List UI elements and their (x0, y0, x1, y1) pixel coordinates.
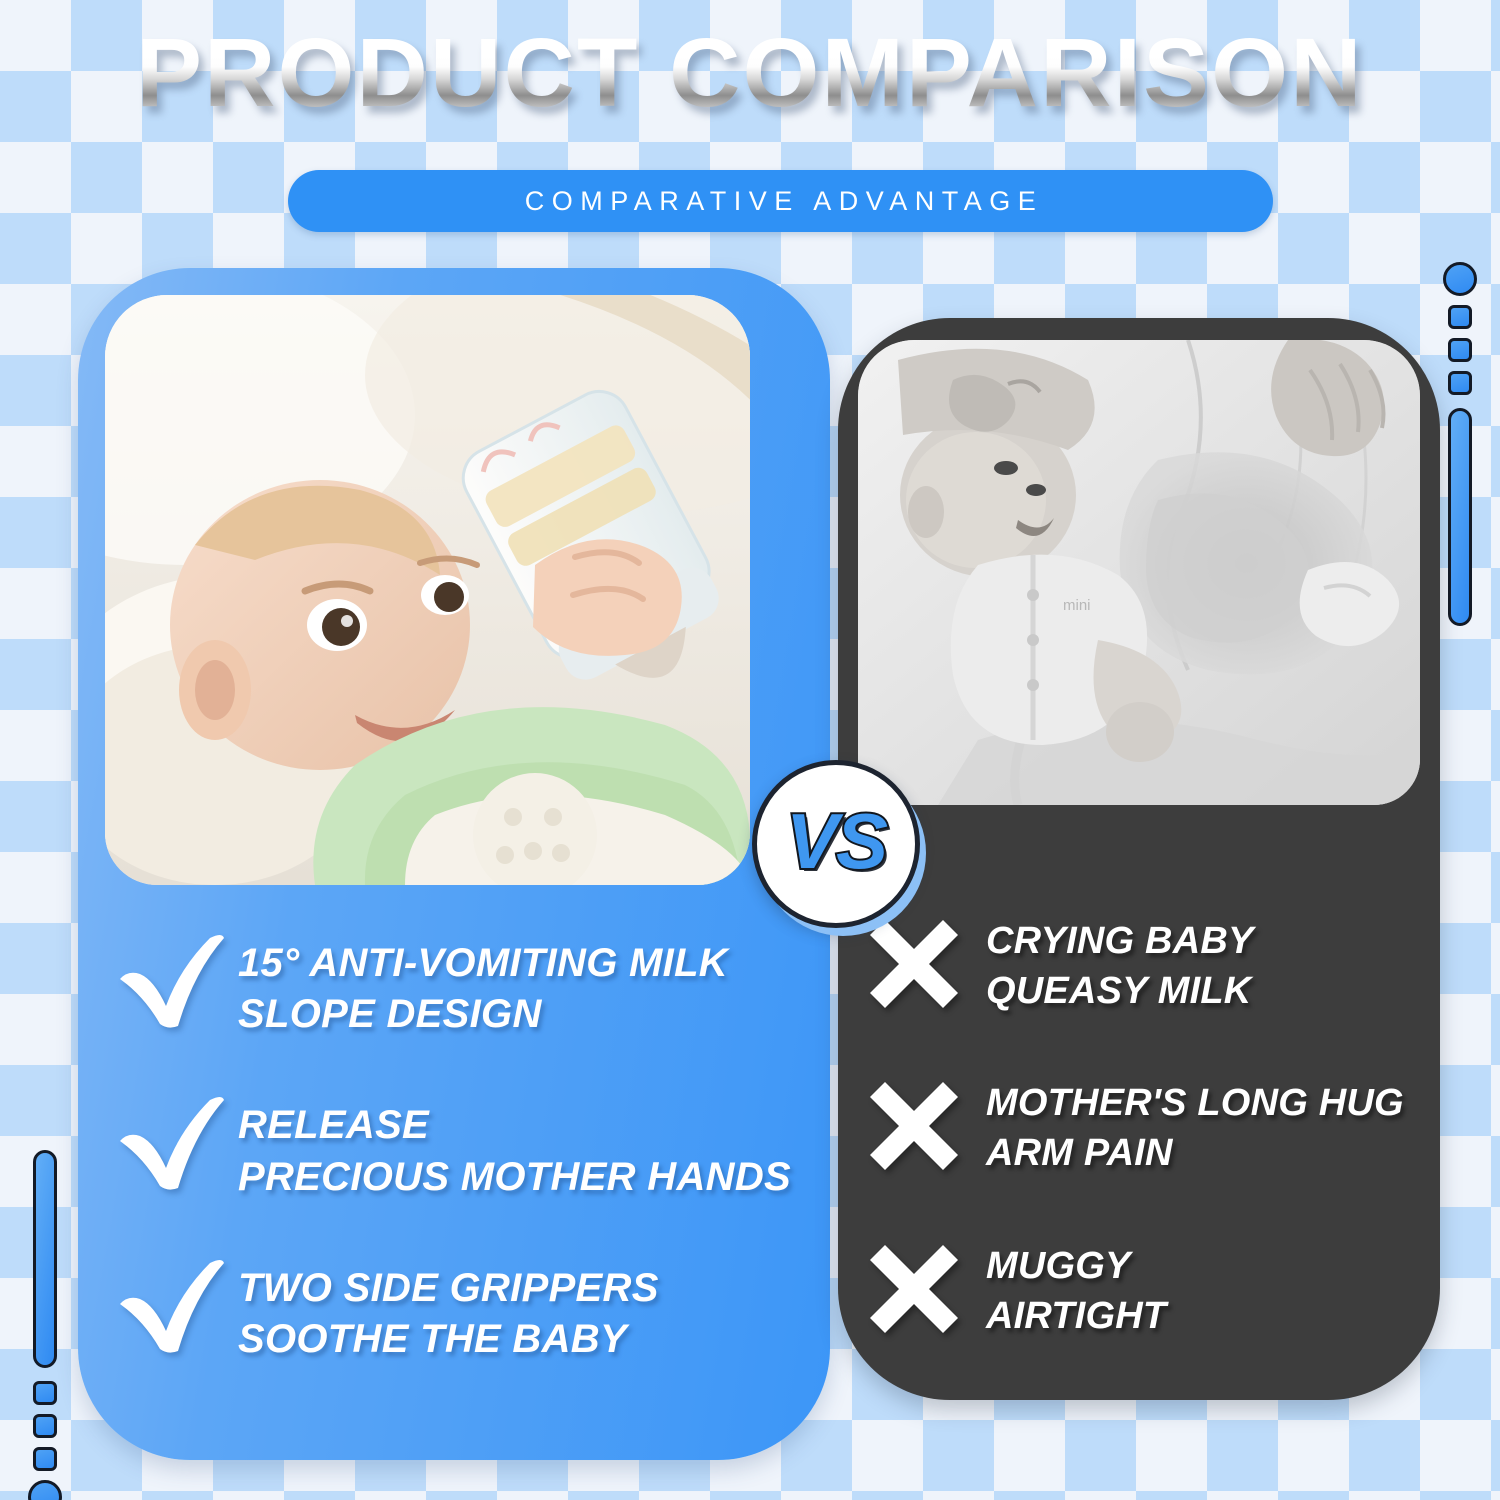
cons-list-item-text: CRYING BABY QUEASY MILK (986, 912, 1254, 1016)
cons-photo: mini (858, 340, 1420, 805)
decoration-circle-icon (1443, 262, 1477, 296)
check-icon (118, 932, 238, 1028)
cross-icon (868, 918, 986, 1010)
cons-list-item-text: MOTHER'S LONG HUG ARM PAIN (986, 1074, 1404, 1178)
decoration-bar-icon (1448, 408, 1472, 626)
pros-item-line2: SOOTHE THE BABY (238, 1314, 659, 1365)
decoration-bar-icon (33, 1150, 57, 1368)
pros-photo (105, 295, 750, 885)
pros-item-line1: RELEASE (238, 1100, 791, 1151)
pros-list-item-text: 15° ANTI-VOMITING MILK SLOPE DESIGN (238, 930, 728, 1040)
infographic-canvas: PRODUCT COMPARISON COMPARATIVE ADVANTAGE (0, 0, 1500, 1500)
decoration-square-icon (33, 1447, 57, 1471)
decoration-square-icon (33, 1381, 57, 1405)
check-icon (118, 1257, 238, 1353)
cons-list-item-text: MUGGY AIRTIGHT (986, 1237, 1166, 1341)
cons-list-item: MOTHER'S LONG HUG ARM PAIN (868, 1074, 1458, 1178)
cons-item-line1: MUGGY (986, 1241, 1166, 1291)
decoration-bottom-left (28, 1150, 62, 1500)
subtitle-banner: COMPARATIVE ADVANTAGE (288, 170, 1273, 232)
pros-list-item-text: RELEASE PRECIOUS MOTHER HANDS (238, 1092, 791, 1202)
cons-item-line1: CRYING BABY (986, 916, 1254, 966)
cons-list-item: CRYING BABY QUEASY MILK (868, 912, 1458, 1016)
decoration-square-icon (1448, 371, 1472, 395)
decoration-square-icon (33, 1414, 57, 1438)
vs-badge: VS (752, 760, 920, 928)
decoration-top-right (1443, 262, 1477, 626)
page-title: PRODUCT COMPARISON (136, 22, 1364, 124)
cons-list: CRYING BABY QUEASY MILK MOTHER'S LONG HU… (868, 912, 1458, 1341)
cons-item-line2: AIRTIGHT (986, 1291, 1166, 1341)
decoration-square-icon (1448, 338, 1472, 362)
pros-list-item: RELEASE PRECIOUS MOTHER HANDS (118, 1092, 838, 1202)
pros-list: 15° ANTI-VOMITING MILK SLOPE DESIGN RELE… (118, 930, 838, 1365)
decoration-circle-icon (28, 1480, 62, 1500)
check-icon (118, 1094, 238, 1190)
cross-icon (868, 1080, 986, 1172)
pros-item-line1: 15° ANTI-VOMITING MILK (238, 938, 728, 989)
cons-item-line1: MOTHER'S LONG HUG (986, 1078, 1404, 1128)
pros-list-item: 15° ANTI-VOMITING MILK SLOPE DESIGN (118, 930, 838, 1040)
pros-item-line1: TWO SIDE GRIPPERS (238, 1263, 659, 1314)
svg-text:mini: mini (1063, 597, 1091, 614)
vs-label: VS (786, 802, 886, 880)
cons-item-line2: ARM PAIN (986, 1128, 1404, 1178)
decoration-square-icon (1448, 305, 1472, 329)
pros-list-item: TWO SIDE GRIPPERS SOOTHE THE BABY (118, 1255, 838, 1365)
cross-icon (868, 1243, 986, 1335)
subtitle-text: COMPARATIVE ADVANTAGE (518, 186, 1044, 217)
pros-item-line2: SLOPE DESIGN (238, 989, 728, 1040)
cons-list-item: MUGGY AIRTIGHT (868, 1237, 1458, 1341)
cons-item-line2: QUEASY MILK (986, 966, 1254, 1016)
pros-item-line2: PRECIOUS MOTHER HANDS (238, 1152, 791, 1203)
page-title-wrapper: PRODUCT COMPARISON (0, 22, 1500, 124)
pros-list-item-text: TWO SIDE GRIPPERS SOOTHE THE BABY (238, 1255, 659, 1365)
